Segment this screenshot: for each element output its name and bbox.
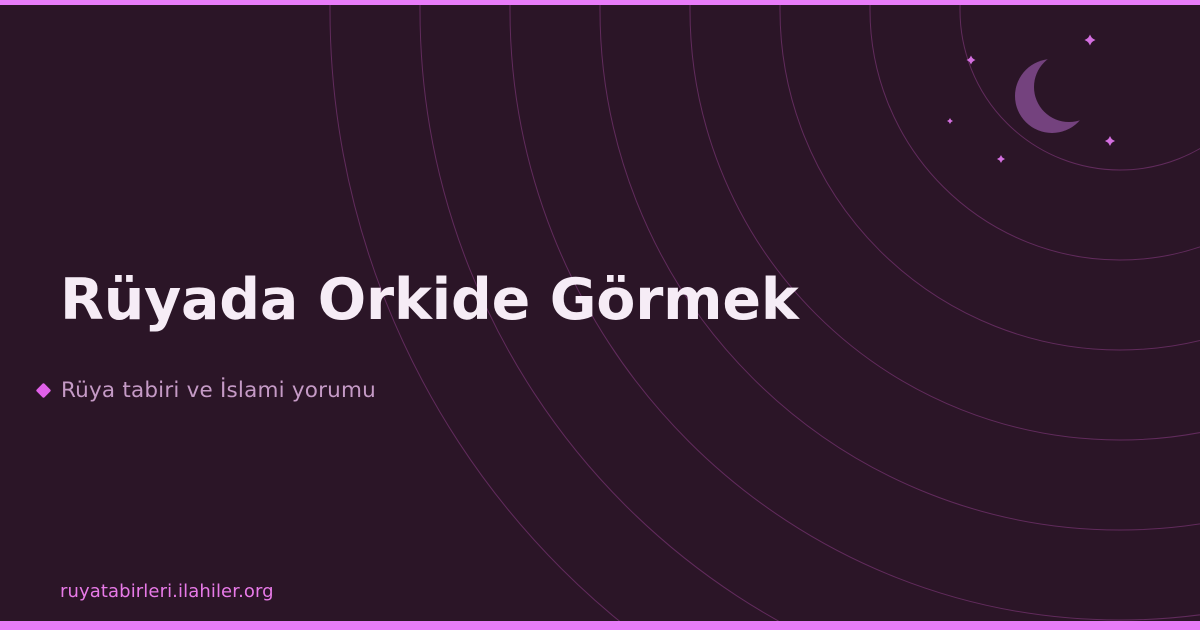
page-title: Rüyada Orkide Görmek (60, 272, 799, 329)
diamond-bullet-icon (36, 383, 52, 399)
page-subtitle: Rüya tabiri ve İslami yorumu (61, 378, 376, 403)
subtitle-row: Rüya tabiri ve İslami yorumu (38, 378, 376, 403)
top-accent-bar (0, 0, 1200, 5)
card-content: Rüyada Orkide Görmek Rüya tabiri ve İsla… (0, 0, 1200, 630)
bottom-accent-bar (0, 621, 1200, 630)
site-url: ruyatabirleri.ilahiler.org (60, 581, 274, 602)
social-share-card: Rüyada Orkide Görmek Rüya tabiri ve İsla… (0, 0, 1200, 630)
